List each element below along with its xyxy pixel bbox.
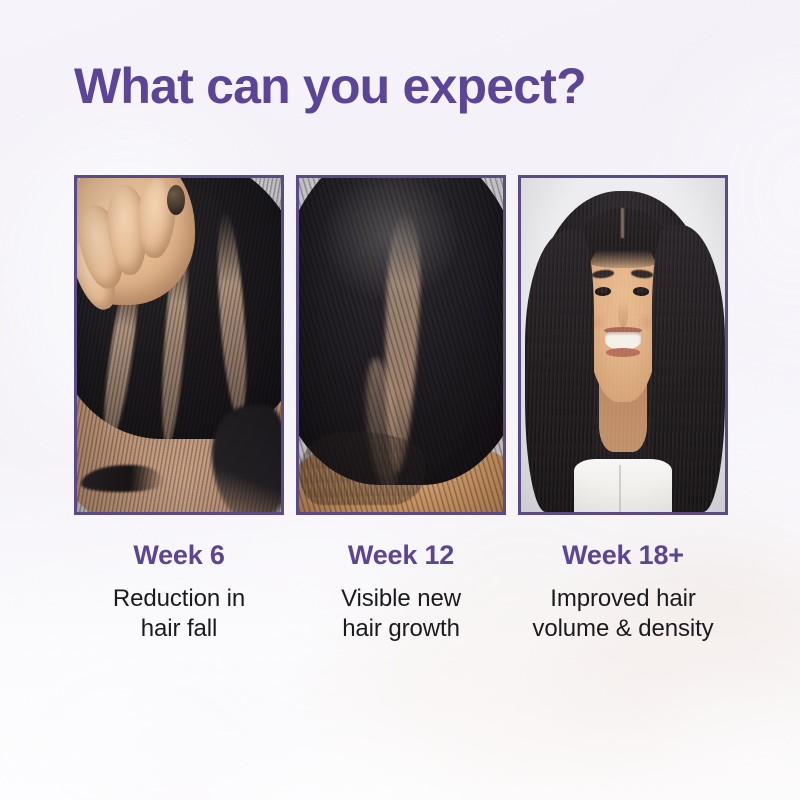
result-photo-week-12 bbox=[296, 175, 506, 515]
page-title: What can you expect? bbox=[74, 57, 586, 115]
scalp-thinning-photo bbox=[77, 178, 281, 512]
smiling-woman-portrait-photo bbox=[521, 178, 725, 512]
result-photo-week-18 bbox=[518, 175, 728, 515]
caption-week-12: Week 12 Visible new hair growth bbox=[296, 538, 506, 644]
caption-week-label: Week 12 bbox=[296, 538, 506, 572]
result-caption-row: Week 6 Reduction in hair fall Week 12 Vi… bbox=[74, 538, 728, 644]
caption-week-description: Reduction in hair fall bbox=[74, 584, 284, 644]
caption-week-18: Week 18+ Improved hair volume & density bbox=[518, 538, 728, 644]
caption-week-description: Improved hair volume & density bbox=[518, 584, 728, 644]
expectation-timeline-poster: What can you expect? bbox=[0, 0, 800, 800]
caption-week-6: Week 6 Reduction in hair fall bbox=[74, 538, 284, 644]
caption-week-description: Visible new hair growth bbox=[296, 584, 506, 644]
result-image-row bbox=[74, 175, 728, 515]
caption-week-label: Week 6 bbox=[74, 538, 284, 572]
caption-week-label: Week 18+ bbox=[518, 538, 728, 572]
result-photo-week-6 bbox=[74, 175, 284, 515]
scalp-regrowth-photo bbox=[299, 178, 503, 512]
